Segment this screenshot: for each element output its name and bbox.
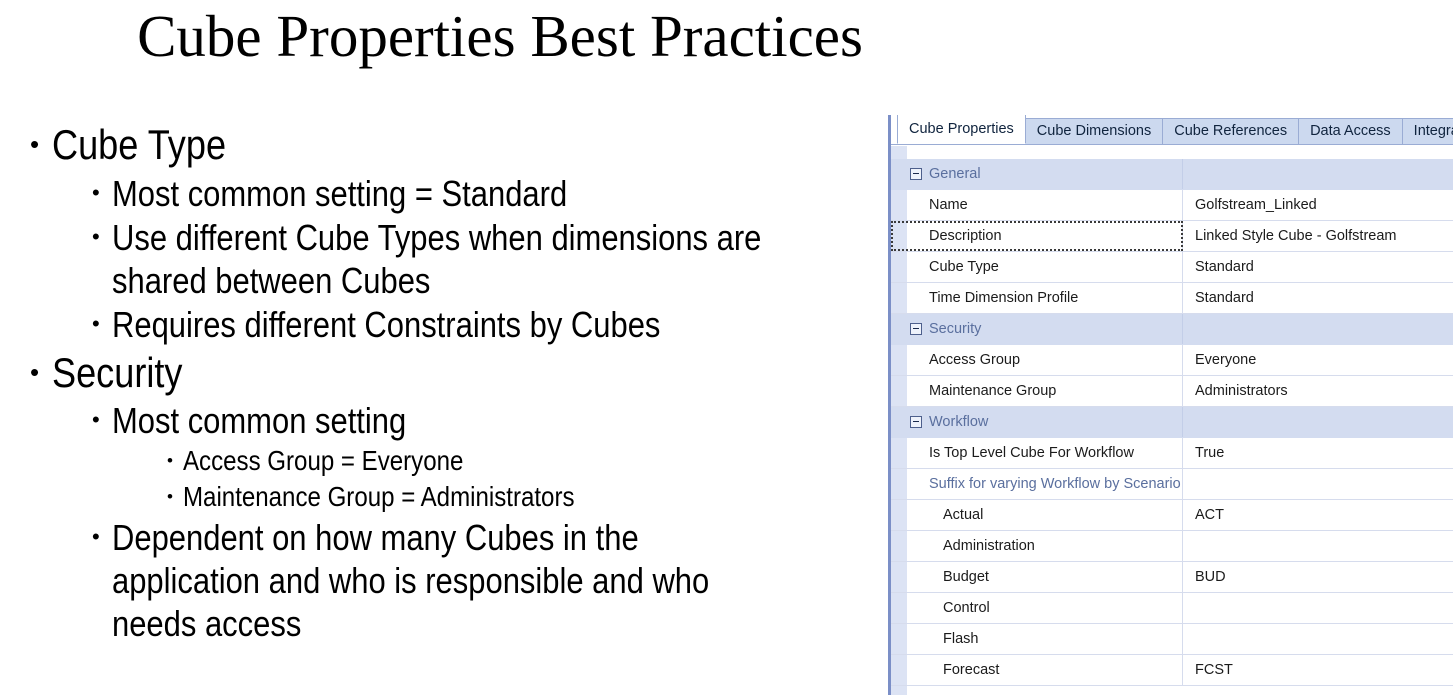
property-row[interactable]: Suffix for varying Workflow by Scenario …: [891, 469, 1453, 500]
property-name: Suffix for varying Workflow by Scenario …: [891, 469, 1183, 499]
properties-grid: GeneralNameGolfstream_LinkedDescriptionL…: [891, 145, 1453, 695]
property-name: Is Top Level Cube For Workflow: [891, 438, 1183, 468]
bullet-item: •Security: [30, 348, 890, 399]
property-name: Flash: [891, 624, 1183, 654]
property-row[interactable]: Flash: [891, 624, 1453, 655]
property-name: Workflow: [891, 407, 1183, 437]
slide-body: •Cube Type•Most common setting = Standar…: [30, 120, 890, 646]
property-value[interactable]: True: [1183, 438, 1453, 468]
property-row[interactable]: Cube TypeStandard: [891, 252, 1453, 283]
bullet-item: •Most common setting: [92, 399, 890, 442]
bullet-label: Maintenance Group = Administrators: [183, 480, 791, 514]
bullet-item: •Requires different Constraints by Cubes: [92, 303, 890, 346]
bullet-label: Cube Type: [52, 120, 773, 171]
property-name: Budget: [891, 562, 1183, 592]
tab-integration[interactable]: Integration: [1402, 118, 1453, 144]
bullet-dot-icon: •: [30, 120, 52, 157]
bullet-label: Access Group = Everyone: [183, 444, 791, 478]
bullet-dot-icon: •: [167, 444, 183, 469]
property-name: Forecast: [891, 655, 1183, 685]
property-name: General: [891, 159, 1183, 189]
grid-rows: GeneralNameGolfstream_LinkedDescriptionL…: [891, 159, 1453, 686]
property-value[interactable]: Administrators: [1183, 376, 1453, 406]
property-value[interactable]: [1183, 407, 1453, 437]
property-value[interactable]: Everyone: [1183, 345, 1453, 375]
property-row[interactable]: NameGolfstream_Linked: [891, 190, 1453, 221]
property-category-row[interactable]: General: [891, 159, 1453, 190]
bullet-label: Most common setting: [112, 399, 781, 442]
property-value[interactable]: Standard: [1183, 252, 1453, 282]
property-name: Description: [891, 221, 1183, 251]
property-value[interactable]: [1183, 159, 1453, 189]
property-value[interactable]: [1183, 314, 1453, 344]
property-row[interactable]: Administration: [891, 531, 1453, 562]
property-value[interactable]: ACT: [1183, 500, 1453, 530]
tab-strip: Cube PropertiesCube DimensionsCube Refer…: [891, 115, 1453, 145]
tab-cube-references[interactable]: Cube References: [1162, 118, 1299, 144]
property-row[interactable]: Maintenance GroupAdministrators: [891, 376, 1453, 407]
property-row[interactable]: Is Top Level Cube For WorkflowTrue: [891, 438, 1453, 469]
property-name: Administration: [891, 531, 1183, 561]
bullet-dot-icon: •: [92, 216, 112, 248]
property-value[interactable]: Standard: [1183, 283, 1453, 313]
bullet-dot-icon: •: [30, 348, 52, 385]
property-category-row[interactable]: Workflow: [891, 407, 1453, 438]
bullet-label: Most common setting = Standard: [112, 172, 781, 215]
property-row[interactable]: ForecastFCST: [891, 655, 1453, 686]
bullet-label: Requires different Constraints by Cubes: [112, 303, 781, 346]
property-value[interactable]: BUD: [1183, 562, 1453, 592]
property-value[interactable]: [1183, 593, 1453, 623]
bullet-dot-icon: •: [92, 303, 112, 335]
property-value[interactable]: FCST: [1183, 655, 1453, 685]
bullet-item: •Cube Type: [30, 120, 890, 171]
property-row[interactable]: BudgetBUD: [891, 562, 1453, 593]
property-category-row[interactable]: Security: [891, 314, 1453, 345]
bullet-item: •Dependent on how many Cubes in the appl…: [92, 516, 890, 646]
property-name: Name: [891, 190, 1183, 220]
bullet-dot-icon: •: [92, 172, 112, 204]
property-value[interactable]: Golfstream_Linked: [1183, 190, 1453, 220]
property-value[interactable]: Linked Style Cube - Golfstream: [1183, 221, 1453, 251]
property-name: Security: [891, 314, 1183, 344]
property-value[interactable]: [1183, 531, 1453, 561]
grid-top-spacer: [891, 146, 1453, 159]
tab-cube-properties[interactable]: Cube Properties: [897, 115, 1026, 144]
bullet-item: •Maintenance Group = Administrators: [167, 480, 890, 514]
bullet-item: •Use different Cube Types when dimension…: [92, 216, 890, 302]
property-row[interactable]: Control: [891, 593, 1453, 624]
bullet-dot-icon: •: [92, 516, 112, 548]
property-name: Maintenance Group: [891, 376, 1183, 406]
tab-data-access[interactable]: Data Access: [1298, 118, 1403, 144]
page-title: Cube Properties Best Practices: [0, 6, 1000, 68]
tab-cube-dimensions[interactable]: Cube Dimensions: [1025, 118, 1163, 144]
property-row[interactable]: DescriptionLinked Style Cube - Golfstrea…: [891, 221, 1453, 252]
bullet-item: •Access Group = Everyone: [167, 444, 890, 478]
bullet-item: •Most common setting = Standard: [92, 172, 890, 215]
property-row[interactable]: ActualACT: [891, 500, 1453, 531]
property-value[interactable]: [1183, 624, 1453, 654]
property-name: Actual: [891, 500, 1183, 530]
cube-properties-panel: Cube PropertiesCube DimensionsCube Refer…: [888, 115, 1453, 695]
property-name: Cube Type: [891, 252, 1183, 282]
bullet-dot-icon: •: [167, 480, 183, 505]
property-name: Control: [891, 593, 1183, 623]
property-row[interactable]: Access GroupEveryone: [891, 345, 1453, 376]
property-name: Access Group: [891, 345, 1183, 375]
collapse-minus-icon[interactable]: [910, 323, 922, 335]
property-name: Time Dimension Profile: [891, 283, 1183, 313]
property-row[interactable]: Time Dimension ProfileStandard: [891, 283, 1453, 314]
bullet-label: Security: [52, 348, 773, 399]
bullet-label: Dependent on how many Cubes in the appli…: [112, 516, 781, 646]
collapse-minus-icon[interactable]: [910, 416, 922, 428]
collapse-minus-icon[interactable]: [910, 168, 922, 180]
bullet-label: Use different Cube Types when dimensions…: [112, 216, 781, 302]
property-value[interactable]: [1183, 469, 1453, 499]
bullet-dot-icon: •: [92, 399, 112, 431]
